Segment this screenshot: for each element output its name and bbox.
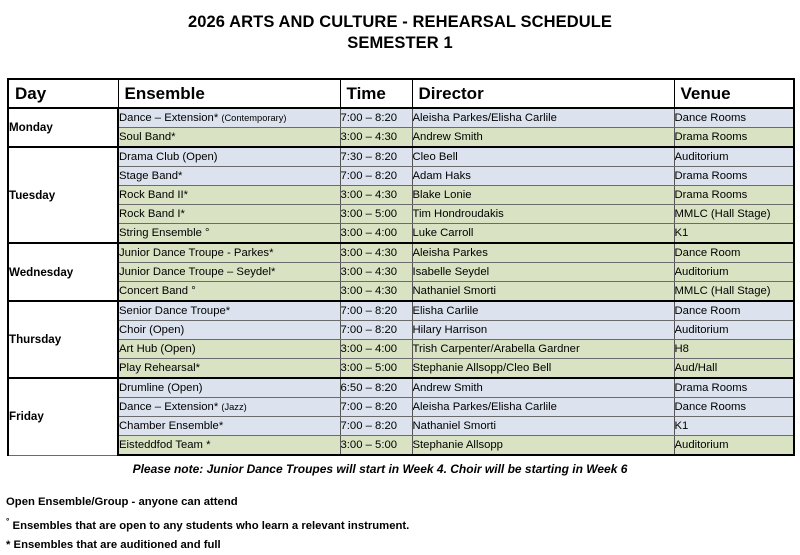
time-cell: 3:00 – 5:00: [340, 205, 412, 224]
ensemble-name: Soul Band*: [119, 131, 176, 143]
ensemble-name: Rock Band II*: [119, 189, 188, 201]
ensemble-name: Stage Band*: [119, 170, 182, 182]
ensemble-cell: Chamber Ensemble*: [118, 417, 340, 436]
ensemble-name: Rock Band I*: [119, 208, 185, 220]
table-row: Rock Band I*3:00 – 5:00Tim HondroudakisM…: [8, 205, 794, 224]
ensemble-cell: Eisteddfod Team *: [118, 436, 340, 456]
ensemble-cell: Choir (Open): [118, 321, 340, 340]
venue-cell: K1: [674, 417, 794, 436]
rehearsal-schedule-table: Day Ensemble Time Director Venue MondayD…: [7, 78, 795, 456]
schedule-table-wrapper: Day Ensemble Time Director Venue MondayD…: [7, 78, 793, 456]
table-row: Art Hub (Open)3:00 – 4:00Trish Carpenter…: [8, 340, 794, 359]
ensemble-cell: Dance – Extension* (Contemporary): [118, 108, 340, 128]
venue-cell: Auditorium: [674, 436, 794, 456]
footnote-open: Open Ensemble/Group - anyone can attend: [6, 493, 800, 512]
footnotes-block: Open Ensemble/Group - anyone can attend …: [0, 493, 800, 555]
time-cell: 7:00 – 8:20: [340, 108, 412, 128]
day-cell-tuesday: Tuesday: [8, 147, 118, 243]
venue-cell: Dance Room: [674, 243, 794, 263]
table-body: MondayDance – Extension* (Contemporary)7…: [8, 108, 794, 455]
table-row: FridayDrumline (Open)6:50 – 8:20Andrew S…: [8, 378, 794, 398]
table-row: Dance – Extension* (Jazz)7:00 – 8:20Alei…: [8, 398, 794, 417]
director-cell: Aleisha Parkes/Elisha Carlile: [412, 398, 674, 417]
time-cell: 6:50 – 8:20: [340, 378, 412, 398]
director-cell: Stephanie Allsopp/Cleo Bell: [412, 359, 674, 379]
table-row: Play Rehearsal*3:00 – 5:00Stephanie Alls…: [8, 359, 794, 379]
venue-cell: MMLC (Hall Stage): [674, 282, 794, 302]
director-cell: Aleisha Parkes/Elisha Carlile: [412, 108, 674, 128]
ensemble-cell: Rock Band I*: [118, 205, 340, 224]
day-cell-friday: Friday: [8, 378, 118, 455]
ensemble-cell: Soul Band*: [118, 128, 340, 148]
ensemble-name: Junior Dance Troupe – Seydel*: [119, 266, 275, 278]
director-cell: Nathaniel Smorti: [412, 417, 674, 436]
ensemble-name: Drama Club (Open): [119, 151, 218, 163]
ensemble-cell: Junior Dance Troupe – Seydel*: [118, 263, 340, 282]
table-row: Rock Band II*3:00 – 4:30Blake LonieDrama…: [8, 186, 794, 205]
column-header-ensemble: Ensemble: [118, 79, 340, 108]
venue-cell: Auditorium: [674, 263, 794, 282]
column-header-director: Director: [412, 79, 674, 108]
director-cell: Andrew Smith: [412, 378, 674, 398]
venue-cell: MMLC (Hall Stage): [674, 205, 794, 224]
ensemble-cell: Art Hub (Open): [118, 340, 340, 359]
ensemble-cell: Stage Band*: [118, 167, 340, 186]
director-cell: Hilary Harrison: [412, 321, 674, 340]
day-cell-thursday: Thursday: [8, 301, 118, 378]
time-cell: 3:00 – 4:30: [340, 243, 412, 263]
ensemble-cell: Drama Club (Open): [118, 147, 340, 167]
director-cell: Elisha Carlile: [412, 301, 674, 321]
ensemble-style-note: (Contemporary): [221, 113, 286, 123]
ensemble-name: Concert Band °: [119, 285, 196, 297]
table-row: TuesdayDrama Club (Open)7:30 – 8:20Cleo …: [8, 147, 794, 167]
director-cell: Adam Haks: [412, 167, 674, 186]
director-cell: Nathaniel Smorti: [412, 282, 674, 302]
ensemble-style-note: (Jazz): [221, 402, 246, 412]
time-cell: 7:00 – 8:20: [340, 167, 412, 186]
ring-marker-icon: °: [6, 516, 9, 526]
time-cell: 3:00 – 5:00: [340, 359, 412, 379]
director-cell: Cleo Bell: [412, 147, 674, 167]
ensemble-cell: String Ensemble °: [118, 224, 340, 244]
footnote-asterisk-text: Ensembles that are auditioned and full: [14, 539, 221, 551]
venue-cell: Drama Rooms: [674, 167, 794, 186]
ensemble-cell: Dance – Extension* (Jazz): [118, 398, 340, 417]
director-cell: Andrew Smith: [412, 128, 674, 148]
document-title: 2026 ARTS AND CULTURE - REHEARSAL SCHEDU…: [0, 0, 800, 54]
ensemble-name: Chamber Ensemble*: [119, 420, 223, 432]
ensemble-name: Drumline (Open): [119, 382, 203, 394]
column-header-venue: Venue: [674, 79, 794, 108]
table-header: Day Ensemble Time Director Venue: [8, 79, 794, 108]
time-cell: 7:00 – 8:20: [340, 417, 412, 436]
ensemble-name: Eisteddfod Team *: [119, 439, 210, 451]
day-cell-monday: Monday: [8, 108, 118, 147]
table-row: MondayDance – Extension* (Contemporary)7…: [8, 108, 794, 128]
director-cell: Tim Hondroudakis: [412, 205, 674, 224]
time-cell: 3:00 – 4:30: [340, 263, 412, 282]
ensemble-name: Senior Dance Troupe*: [119, 305, 230, 317]
column-header-time: Time: [340, 79, 412, 108]
venue-cell: Drama Rooms: [674, 186, 794, 205]
ensemble-name: Play Rehearsal*: [119, 362, 200, 374]
time-cell: 3:00 – 4:30: [340, 186, 412, 205]
venue-cell: K1: [674, 224, 794, 244]
ensemble-name: Junior Dance Troupe - Parkes*: [119, 247, 273, 259]
column-header-day: Day: [8, 79, 118, 108]
venue-cell: Drama Rooms: [674, 378, 794, 398]
venue-cell: Dance Rooms: [674, 398, 794, 417]
time-cell: 3:00 – 4:00: [340, 224, 412, 244]
director-cell: Luke Carroll: [412, 224, 674, 244]
director-cell: Trish Carpenter/Arabella Gardner: [412, 340, 674, 359]
venue-cell: Aud/Hall: [674, 359, 794, 379]
table-row: ThursdaySenior Dance Troupe*7:00 – 8:20E…: [8, 301, 794, 321]
ensemble-name: String Ensemble °: [119, 227, 210, 239]
ensemble-name: Art Hub (Open): [119, 343, 196, 355]
director-cell: Aleisha Parkes: [412, 243, 674, 263]
ensemble-cell: Concert Band °: [118, 282, 340, 302]
ensemble-name: Choir (Open): [119, 324, 184, 336]
ensemble-cell: Play Rehearsal*: [118, 359, 340, 379]
title-line-2: SEMESTER 1: [0, 33, 800, 54]
time-cell: 3:00 – 4:30: [340, 128, 412, 148]
ensemble-name: Dance – Extension*: [119, 401, 218, 413]
time-cell: 3:00 – 5:00: [340, 436, 412, 456]
table-row: String Ensemble °3:00 – 4:00Luke Carroll…: [8, 224, 794, 244]
director-cell: Blake Lonie: [412, 186, 674, 205]
schedule-note: Please note: Junior Dance Troupes will s…: [0, 462, 800, 476]
time-cell: 7:00 – 8:20: [340, 398, 412, 417]
venue-cell: Auditorium: [674, 147, 794, 167]
director-cell: Stephanie Allsopp: [412, 436, 674, 456]
time-cell: 3:00 – 4:30: [340, 282, 412, 302]
ensemble-cell: Senior Dance Troupe*: [118, 301, 340, 321]
table-row: Junior Dance Troupe – Seydel*3:00 – 4:30…: [8, 263, 794, 282]
table-row: Choir (Open)7:00 – 8:20Hilary HarrisonAu…: [8, 321, 794, 340]
asterisk-marker-icon: *: [6, 539, 10, 551]
time-cell: 7:00 – 8:20: [340, 301, 412, 321]
table-row: Soul Band*3:00 – 4:30Andrew SmithDrama R…: [8, 128, 794, 148]
table-row: WednesdayJunior Dance Troupe - Parkes*3:…: [8, 243, 794, 263]
footnote-open-text: Open Ensemble/Group - anyone can attend: [6, 496, 238, 508]
director-cell: Isabelle Seydel: [412, 263, 674, 282]
table-row: Eisteddfod Team *3:00 – 5:00Stephanie Al…: [8, 436, 794, 456]
day-cell-wednesday: Wednesday: [8, 243, 118, 301]
footnote-ring-text: Ensembles that are open to any students …: [13, 520, 410, 532]
time-cell: 3:00 – 4:00: [340, 340, 412, 359]
time-cell: 7:30 – 8:20: [340, 147, 412, 167]
venue-cell: Dance Rooms: [674, 108, 794, 128]
footnote-ring: ° Ensembles that are open to any student…: [6, 512, 800, 536]
venue-cell: H8: [674, 340, 794, 359]
venue-cell: Drama Rooms: [674, 128, 794, 148]
ensemble-cell: Drumline (Open): [118, 378, 340, 398]
time-cell: 7:00 – 8:20: [340, 321, 412, 340]
venue-cell: Auditorium: [674, 321, 794, 340]
table-header-row: Day Ensemble Time Director Venue: [8, 79, 794, 108]
ensemble-cell: Junior Dance Troupe - Parkes*: [118, 243, 340, 263]
table-row: Chamber Ensemble*7:00 – 8:20Nathaniel Sm…: [8, 417, 794, 436]
venue-cell: Dance Room: [674, 301, 794, 321]
schedule-document: 2026 ARTS AND CULTURE - REHEARSAL SCHEDU…: [0, 0, 800, 550]
ensemble-cell: Rock Band II*: [118, 186, 340, 205]
table-row: Concert Band °3:00 – 4:30Nathaniel Smort…: [8, 282, 794, 302]
footnote-asterisk: * Ensembles that are auditioned and full: [6, 536, 800, 555]
table-row: Stage Band*7:00 – 8:20Adam HaksDrama Roo…: [8, 167, 794, 186]
ensemble-name: Dance – Extension*: [119, 112, 218, 124]
title-line-1: 2026 ARTS AND CULTURE - REHEARSAL SCHEDU…: [0, 12, 800, 33]
